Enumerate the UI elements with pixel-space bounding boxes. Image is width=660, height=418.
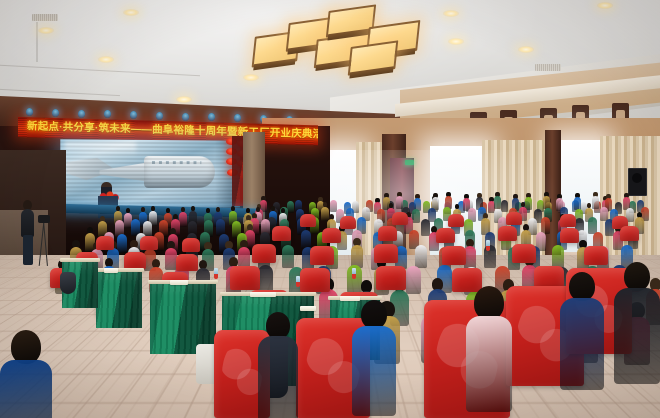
person-torso [0, 360, 52, 418]
person-head [624, 262, 650, 291]
chair-back [272, 226, 291, 241]
chair-back [182, 238, 200, 252]
ceiling-downlight [98, 56, 114, 63]
person-torso [396, 196, 403, 209]
chair-back [620, 226, 639, 241]
chair-back [322, 228, 341, 243]
person-head [569, 272, 595, 301]
person-torso [560, 298, 604, 390]
water-bottle [296, 276, 300, 287]
stage-spotlight [208, 113, 215, 121]
person-head [11, 330, 41, 364]
ceiling-light-cube [348, 40, 399, 75]
chair-back [140, 236, 158, 250]
person-torso [258, 336, 298, 418]
ceiling-downlight [448, 38, 464, 45]
chair-back [310, 246, 334, 265]
screen-highlight [64, 141, 136, 156]
ceiling-downlight [518, 46, 534, 53]
person-torso [352, 326, 396, 416]
chair-back [506, 212, 522, 225]
air-vent [535, 64, 561, 71]
air-vent [32, 14, 58, 21]
person-torso [412, 209, 420, 223]
box-cluster-ceiling-light [253, 2, 433, 68]
screen-machine-cone [99, 162, 150, 182]
stage-spotlight [104, 110, 111, 118]
ceiling-downlight [597, 2, 613, 9]
stage-spotlight [130, 111, 137, 119]
ceiling-downlight [123, 9, 139, 16]
bag [60, 272, 76, 294]
stage-spotlight [182, 113, 189, 121]
person-head [361, 300, 387, 329]
stage-spotlight [26, 108, 33, 116]
document-on-table [250, 292, 276, 297]
ceiling-seam [36, 22, 38, 62]
chair-back [512, 244, 536, 263]
stage-spotlight [234, 114, 241, 122]
document-on-table [300, 306, 316, 311]
ceiling-downlight [176, 96, 192, 103]
water-bottle [352, 268, 356, 279]
table-top [94, 268, 144, 272]
chair-back [378, 226, 397, 241]
screen-machine-arm [67, 158, 116, 180]
chair-back [374, 244, 398, 263]
screen-machine-body [144, 156, 215, 188]
led-banner-text: 新起点·共分享·筑未来——曲阜裕隆十周年暨新工厂开业庆典活动高峰论坛 [27, 120, 314, 141]
chair-back [176, 254, 198, 271]
chair-back [442, 246, 466, 265]
chair-back [96, 236, 114, 250]
person-head [474, 286, 504, 320]
chair-back [584, 246, 608, 265]
conference-hall-photo: 新起点·共分享·筑未来——曲阜裕隆十周年暨新工厂开业庆典活动高峰论坛 [0, 0, 660, 418]
table-top [60, 258, 100, 262]
chair-back [124, 252, 146, 269]
person-torso [406, 266, 421, 294]
person-torso [117, 234, 127, 253]
ceiling-downlight [38, 27, 54, 34]
chair-back [300, 268, 330, 292]
chair-back [300, 214, 316, 227]
chair-back [376, 266, 406, 290]
person-torso [321, 207, 329, 221]
chair-back [452, 268, 482, 292]
person-head [266, 312, 290, 339]
chair-back [230, 266, 260, 290]
stage-spotlight [156, 112, 163, 120]
person-torso [614, 288, 660, 384]
ceiling-downlight [443, 10, 459, 17]
person-torso [179, 212, 187, 227]
chair-back [392, 212, 408, 225]
chair-back [252, 244, 276, 263]
person-torso [592, 196, 599, 209]
person-torso [501, 200, 508, 212]
document-on-table [104, 268, 118, 273]
chair-back [448, 214, 464, 227]
water-bottle [214, 268, 218, 279]
document-on-table [170, 280, 188, 285]
chair-back [560, 228, 579, 243]
person-torso [466, 316, 512, 412]
ceiling-downlight [243, 74, 259, 81]
chair-back [436, 228, 455, 243]
stage-spotlight [52, 109, 59, 117]
table-skirt [96, 272, 142, 328]
water-bottle [486, 240, 490, 251]
pa-speaker [628, 168, 647, 196]
document-on-table [340, 296, 360, 301]
led-projection-screen [60, 139, 240, 208]
chair-back [498, 226, 517, 241]
exit-sign-icon [405, 160, 414, 165]
video-camera [38, 215, 50, 223]
chair-back [560, 214, 576, 227]
chair-back [340, 216, 356, 229]
stage-spotlight [78, 110, 85, 118]
